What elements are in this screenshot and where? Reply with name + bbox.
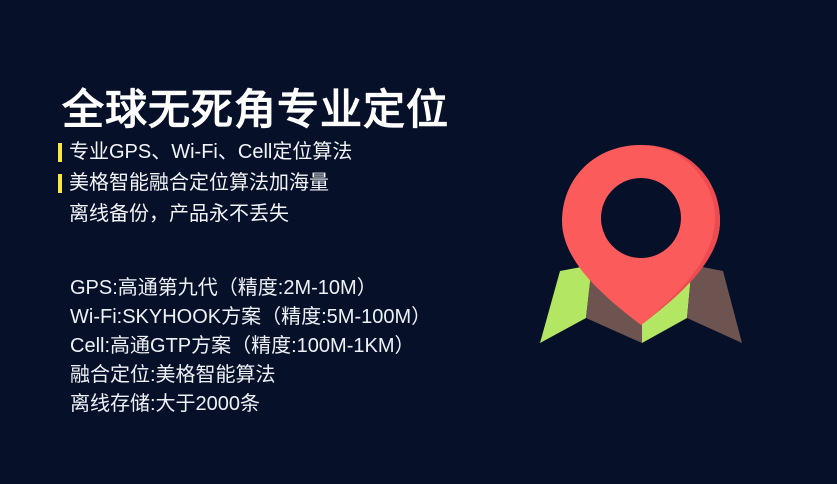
spec-line-fusion: 融合定位:美格智能算法	[70, 361, 431, 390]
list-item: 离线备份，产品永不丢失	[58, 199, 488, 230]
bullet-marker-icon	[58, 143, 62, 162]
map-panel-green-left	[540, 265, 592, 343]
spec-line-storage: 离线存储:大于2000条	[70, 390, 431, 419]
spec-line-wifi: Wi-Fi:SKYHOOK方案（精度:5M-100M）	[70, 303, 431, 332]
bullet-marker-placeholder-icon	[58, 205, 62, 224]
map-location-pin-illustration	[520, 128, 780, 358]
feature-bullet-list: 专业GPS、Wi-Fi、Cell定位算法 美格智能融合定位算法加海量 离线备份，…	[58, 137, 488, 230]
bullet-text: 离线备份，产品永不丢失	[69, 199, 289, 229]
map-panel-brown-right	[687, 265, 742, 343]
pin-hole	[601, 178, 681, 258]
list-item: 专业GPS、Wi-Fi、Cell定位算法	[58, 137, 488, 168]
bullet-marker-icon	[58, 174, 62, 193]
spec-line-gps: GPS:高通第九代（精度:2M-10M）	[70, 274, 431, 303]
page-title: 全球无死角专业定位	[62, 85, 449, 135]
spec-list: GPS:高通第九代（精度:2M-10M） Wi-Fi:SKYHOOK方案（精度:…	[70, 274, 431, 419]
list-item: 美格智能融合定位算法加海量	[58, 168, 488, 199]
slide-canvas: 全球无死角专业定位 专业GPS、Wi-Fi、Cell定位算法 美格智能融合定位算…	[0, 0, 837, 484]
spec-line-cell: Cell:高通GTP方案（精度:100M-1KM）	[70, 332, 431, 361]
bullet-text: 专业GPS、Wi-Fi、Cell定位算法	[69, 137, 352, 167]
bullet-text: 美格智能融合定位算法加海量	[69, 168, 329, 198]
